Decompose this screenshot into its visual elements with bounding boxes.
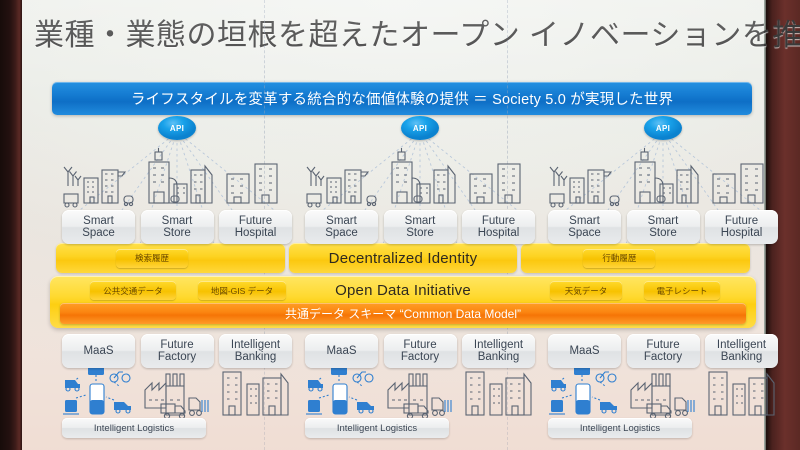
label-future-factory: Future Factory: [384, 334, 457, 368]
common-data-model-text: 共通データ スキーマ “Common Data Model”: [285, 305, 521, 322]
bottom-icon-row: [305, 366, 535, 421]
label-smart-space: Smart Space: [62, 210, 135, 244]
api-label: API: [413, 124, 427, 133]
label-intelligent-banking: Intelligent Banking: [219, 334, 292, 368]
label-line-2: Store: [406, 227, 434, 240]
logistics-text: Intelligent Logistics: [94, 423, 174, 434]
label-line-1: Future: [239, 215, 272, 228]
label-line-1: Intelligent: [474, 339, 523, 352]
maas-mobility-icon: [62, 366, 135, 421]
data-chip-public-transport: 公共交通データ: [90, 281, 176, 300]
decentralized-identity-text: Decentralized Identity: [329, 250, 478, 267]
label-line-1: Smart: [326, 215, 357, 228]
data-chip-e-receipt: 電子レシート: [644, 281, 720, 300]
label-line-2: Banking: [721, 351, 763, 364]
bottom-label-row: MaaS Future Factory Intelligent Banking: [62, 334, 292, 368]
chip-text: 地図-GIS データ: [211, 285, 273, 297]
label-line-2: Factory: [158, 351, 196, 364]
identity-segment-right: 行動履歴: [521, 243, 750, 273]
bottom-icon-row: [548, 366, 778, 421]
api-node-icon: API: [158, 116, 196, 140]
label-smart-store: Smart Store: [384, 210, 457, 244]
data-chip-weather: 天気データ: [550, 281, 622, 300]
city-icon-row: [305, 142, 535, 214]
city-icon-row: [62, 142, 292, 214]
bottom-icon-row: [62, 366, 292, 421]
future-factory-icon: [384, 366, 457, 421]
identity-segment-center: Decentralized Identity: [289, 243, 518, 273]
label-line-1: MaaS: [569, 345, 599, 358]
intelligent-banking-icon: [219, 366, 292, 421]
maas-mobility-icon: [548, 366, 621, 421]
label-smart-space: Smart Space: [548, 210, 621, 244]
future-hospital-icon: [462, 144, 535, 214]
label-line-1: Smart: [569, 215, 600, 228]
label-line-2: Factory: [644, 351, 682, 364]
future-factory-icon: [141, 366, 214, 421]
label-line-2: Store: [649, 227, 677, 240]
api-label: API: [170, 124, 184, 133]
chip-text: 天気データ: [565, 285, 608, 297]
smart-store-icon: [384, 144, 457, 214]
slide-photo: 業種・業態の垣根を超えたオープン イノベーションを推進 ライフスタイルを変革する…: [0, 0, 800, 450]
label-line-1: Intelligent: [231, 339, 280, 352]
intelligent-logistics-label: Intelligent Logistics: [62, 418, 206, 438]
label-maas: MaaS: [305, 334, 378, 368]
intelligent-banking-icon: [705, 366, 778, 421]
data-chip-behavior-history: 行動履歴: [583, 249, 655, 268]
chip-text: 電子レシート: [656, 285, 707, 297]
label-line-2: Hospital: [478, 227, 520, 240]
label-line-1: Smart: [648, 215, 679, 228]
api-node-icon: API: [401, 116, 439, 140]
smart-space-icon: [548, 144, 621, 214]
label-line-1: Smart: [162, 215, 193, 228]
label-future-hospital: Future Hospital: [462, 210, 535, 244]
bottom-label-row: MaaS Future Factory Intelligent Banking: [305, 334, 535, 368]
smart-space-icon: [305, 144, 378, 214]
api-label: API: [656, 124, 670, 133]
label-maas: MaaS: [548, 334, 621, 368]
vision-banner-text: ライフスタイルを変革する統合的な価値体験の提供 ＝ Society 5.0 が実…: [131, 88, 673, 109]
future-factory-icon: [627, 366, 700, 421]
label-smart-store: Smart Store: [627, 210, 700, 244]
label-line-1: MaaS: [326, 345, 356, 358]
label-line-1: Future: [160, 339, 193, 352]
label-line-2: Store: [163, 227, 191, 240]
smart-store-icon: [627, 144, 700, 214]
city-icon-row: [548, 142, 778, 214]
label-maas: MaaS: [62, 334, 135, 368]
label-line-2: Banking: [478, 351, 520, 364]
chip-text: 公共交通データ: [103, 285, 163, 297]
label-smart-store: Smart Store: [141, 210, 214, 244]
common-data-model-bar: 共通データ スキーマ “Common Data Model”: [60, 303, 746, 324]
chip-text: 検索履歴: [135, 252, 169, 264]
label-line-1: Future: [482, 215, 515, 228]
logistics-text: Intelligent Logistics: [337, 423, 417, 434]
label-future-factory: Future Factory: [627, 334, 700, 368]
label-intelligent-banking: Intelligent Banking: [705, 334, 778, 368]
future-hospital-icon: [705, 144, 778, 214]
vision-banner: ライフスタイルを変革する統合的な価値体験の提供 ＝ Society 5.0 が実…: [52, 82, 752, 115]
decentralized-identity-band: 検索履歴 Decentralized Identity 行動履歴: [54, 243, 752, 273]
top-label-row: Smart Space Smart Store Future Hospital: [548, 210, 778, 244]
identity-segment-left: 検索履歴: [56, 243, 285, 273]
label-line-1: Future: [403, 339, 436, 352]
label-line-2: Banking: [235, 351, 277, 364]
intelligent-logistics-label: Intelligent Logistics: [305, 418, 449, 438]
smart-store-icon: [141, 144, 214, 214]
label-line-1: Future: [725, 215, 758, 228]
label-intelligent-banking: Intelligent Banking: [462, 334, 535, 368]
top-label-row: Smart Space Smart Store Future Hospital: [305, 210, 535, 244]
data-chip-map-gis: 地図-GIS データ: [198, 281, 286, 300]
smart-space-icon: [62, 144, 135, 214]
label-future-hospital: Future Hospital: [705, 210, 778, 244]
top-label-row: Smart Space Smart Store Future Hospital: [62, 210, 292, 244]
projection-frame-left: [0, 0, 22, 450]
data-chip-search-history: 検索履歴: [116, 249, 188, 268]
label-future-hospital: Future Hospital: [219, 210, 292, 244]
label-line-1: Smart: [405, 215, 436, 228]
presentation-screen: 業種・業態の垣根を超えたオープン イノベーションを推進 ライフスタイルを変革する…: [22, 0, 764, 450]
logistics-text: Intelligent Logistics: [580, 423, 660, 434]
label-line-2: Space: [568, 227, 601, 240]
maas-mobility-icon: [305, 366, 378, 421]
label-line-2: Space: [82, 227, 115, 240]
intelligent-logistics-label: Intelligent Logistics: [548, 418, 692, 438]
label-line-2: Factory: [401, 351, 439, 364]
label-line-2: Hospital: [235, 227, 277, 240]
label-smart-space: Smart Space: [305, 210, 378, 244]
future-hospital-icon: [219, 144, 292, 214]
label-line-1: MaaS: [83, 345, 113, 358]
label-line-1: Intelligent: [717, 339, 766, 352]
label-line-2: Hospital: [721, 227, 763, 240]
api-node-icon: API: [644, 116, 682, 140]
bottom-label-row: MaaS Future Factory Intelligent Banking: [548, 334, 778, 368]
label-future-factory: Future Factory: [141, 334, 214, 368]
label-line-1: Future: [646, 339, 679, 352]
label-line-1: Smart: [83, 215, 114, 228]
label-line-2: Space: [325, 227, 358, 240]
intelligent-banking-icon: [462, 366, 535, 421]
slide-title: 業種・業態の垣根を超えたオープン イノベーションを推進: [34, 6, 749, 58]
chip-text: 行動履歴: [602, 252, 636, 264]
open-data-initiative-band: Open Data Initiative 公共交通データ 地図-GIS データ …: [50, 276, 756, 328]
